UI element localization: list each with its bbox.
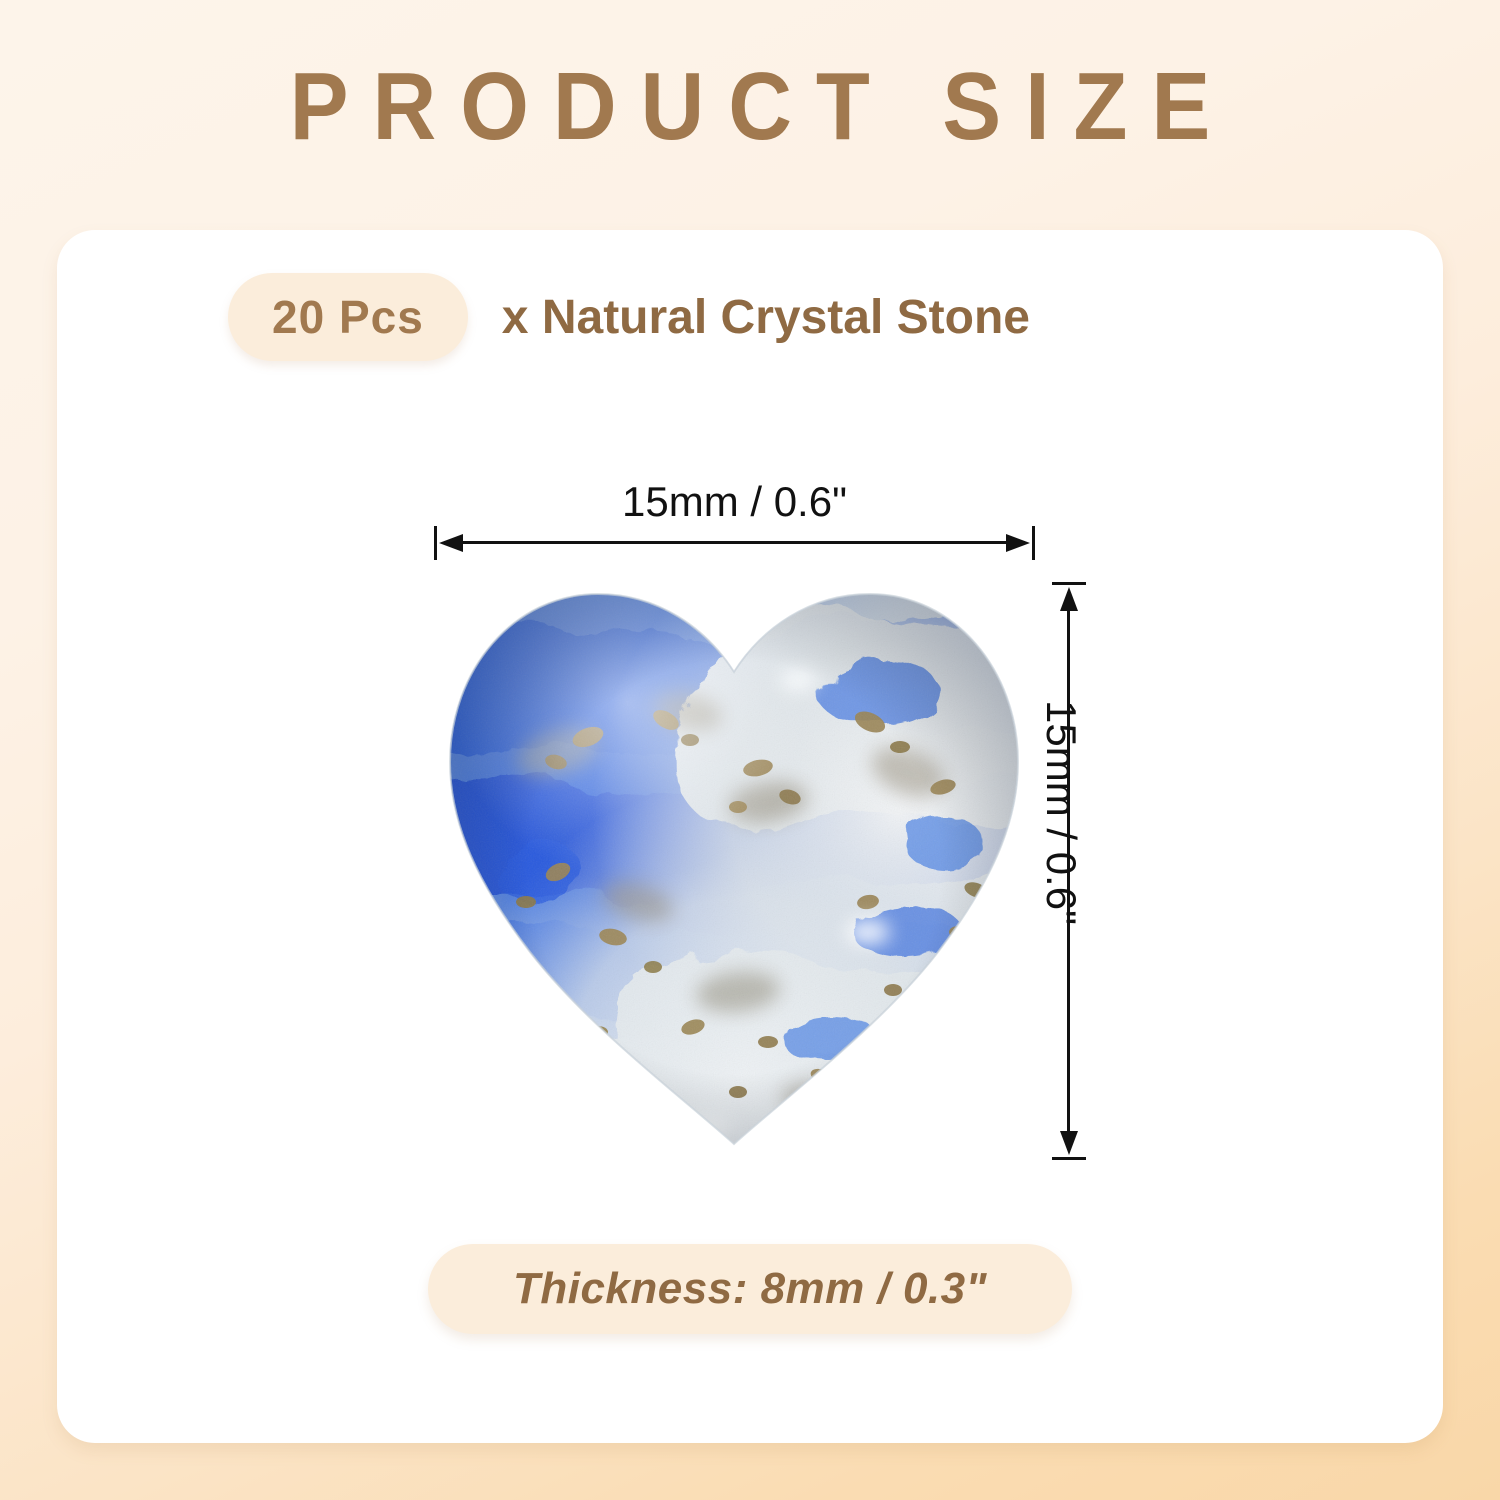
arrow-left-icon — [439, 534, 463, 552]
height-dimension-label: 15mm / 0.6" — [1037, 700, 1085, 925]
height-tick-top — [1052, 582, 1086, 585]
arrow-right-icon — [1006, 534, 1030, 552]
product-size-infographic: PRODUCT SIZE 20 Pcs x Natural Crystal St… — [0, 0, 1500, 1500]
quantity-badge-label: 20 Pcs — [272, 291, 424, 343]
arrow-up-icon — [1060, 587, 1078, 611]
width-dimension-arrow — [434, 526, 1035, 560]
product-header-row: 20 Pcs x Natural Crystal Stone — [228, 273, 1030, 361]
width-tick-left — [434, 526, 437, 560]
width-dimension-label: 15mm / 0.6" — [434, 478, 1035, 526]
arrow-down-icon — [1060, 1131, 1078, 1155]
thickness-label: Thickness: 8mm / 0.3" — [513, 1264, 987, 1313]
width-line — [444, 541, 1025, 544]
page-title: PRODUCT SIZE — [60, 52, 1440, 162]
thickness-badge: Thickness: 8mm / 0.3" — [428, 1244, 1072, 1334]
heart-stone-graphic — [438, 572, 1030, 1164]
product-name-label: x Natural Crystal Stone — [502, 290, 1030, 345]
product-image — [438, 572, 1030, 1164]
height-tick-bottom — [1052, 1157, 1086, 1160]
quantity-badge: 20 Pcs — [228, 273, 468, 361]
width-tick-right — [1032, 526, 1035, 560]
